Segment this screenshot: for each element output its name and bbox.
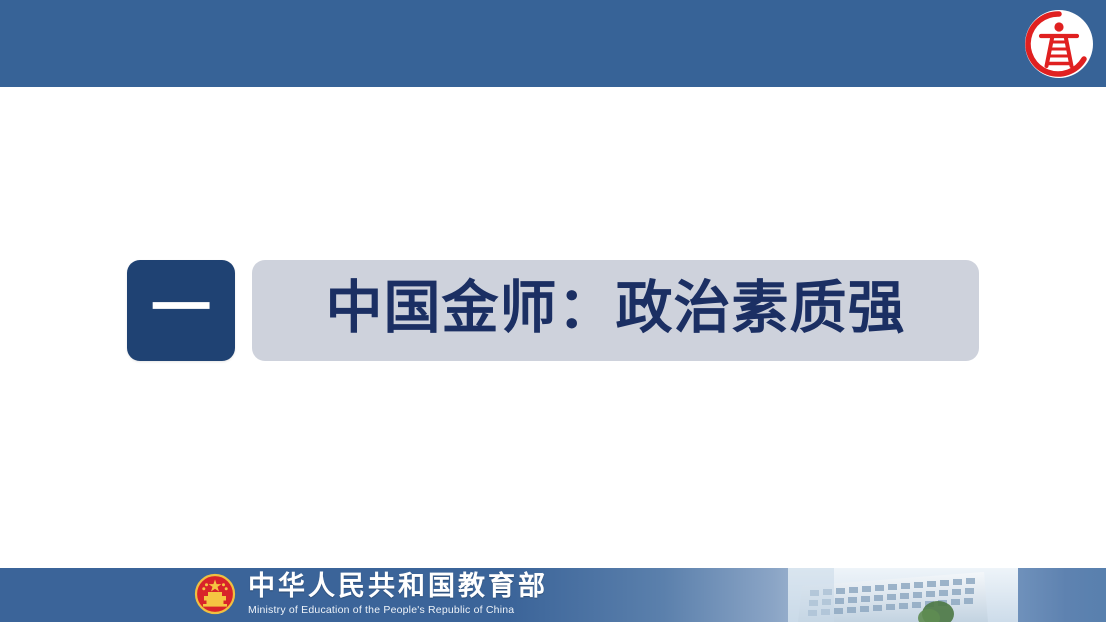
tower-emblem-logo-icon xyxy=(1021,6,1097,82)
footer-right-fade xyxy=(1018,568,1106,622)
header-bar xyxy=(0,0,1106,87)
section-index-label: 一 xyxy=(151,279,211,339)
ministry-building-photo-icon xyxy=(788,568,1020,622)
ministry-identity: 中华人民共和国教育部 Ministry of Education of the … xyxy=(248,568,648,622)
page-title: 中国金师：政治素质强 xyxy=(326,280,906,337)
ministry-name-en: Ministry of Education of the People's Re… xyxy=(248,604,648,617)
china-national-emblem-icon xyxy=(193,572,237,616)
slide-root: 一 中国金师：政治素质强 xyxy=(0,0,1106,622)
ministry-name-cn: 中华人民共和国教育部 xyxy=(248,573,648,601)
section-index-badge: 一 xyxy=(127,260,235,361)
section-title-block: 一 中国金师：政治素质强 xyxy=(127,260,979,361)
section-title-pill: 中国金师：政治素质强 xyxy=(252,260,979,361)
